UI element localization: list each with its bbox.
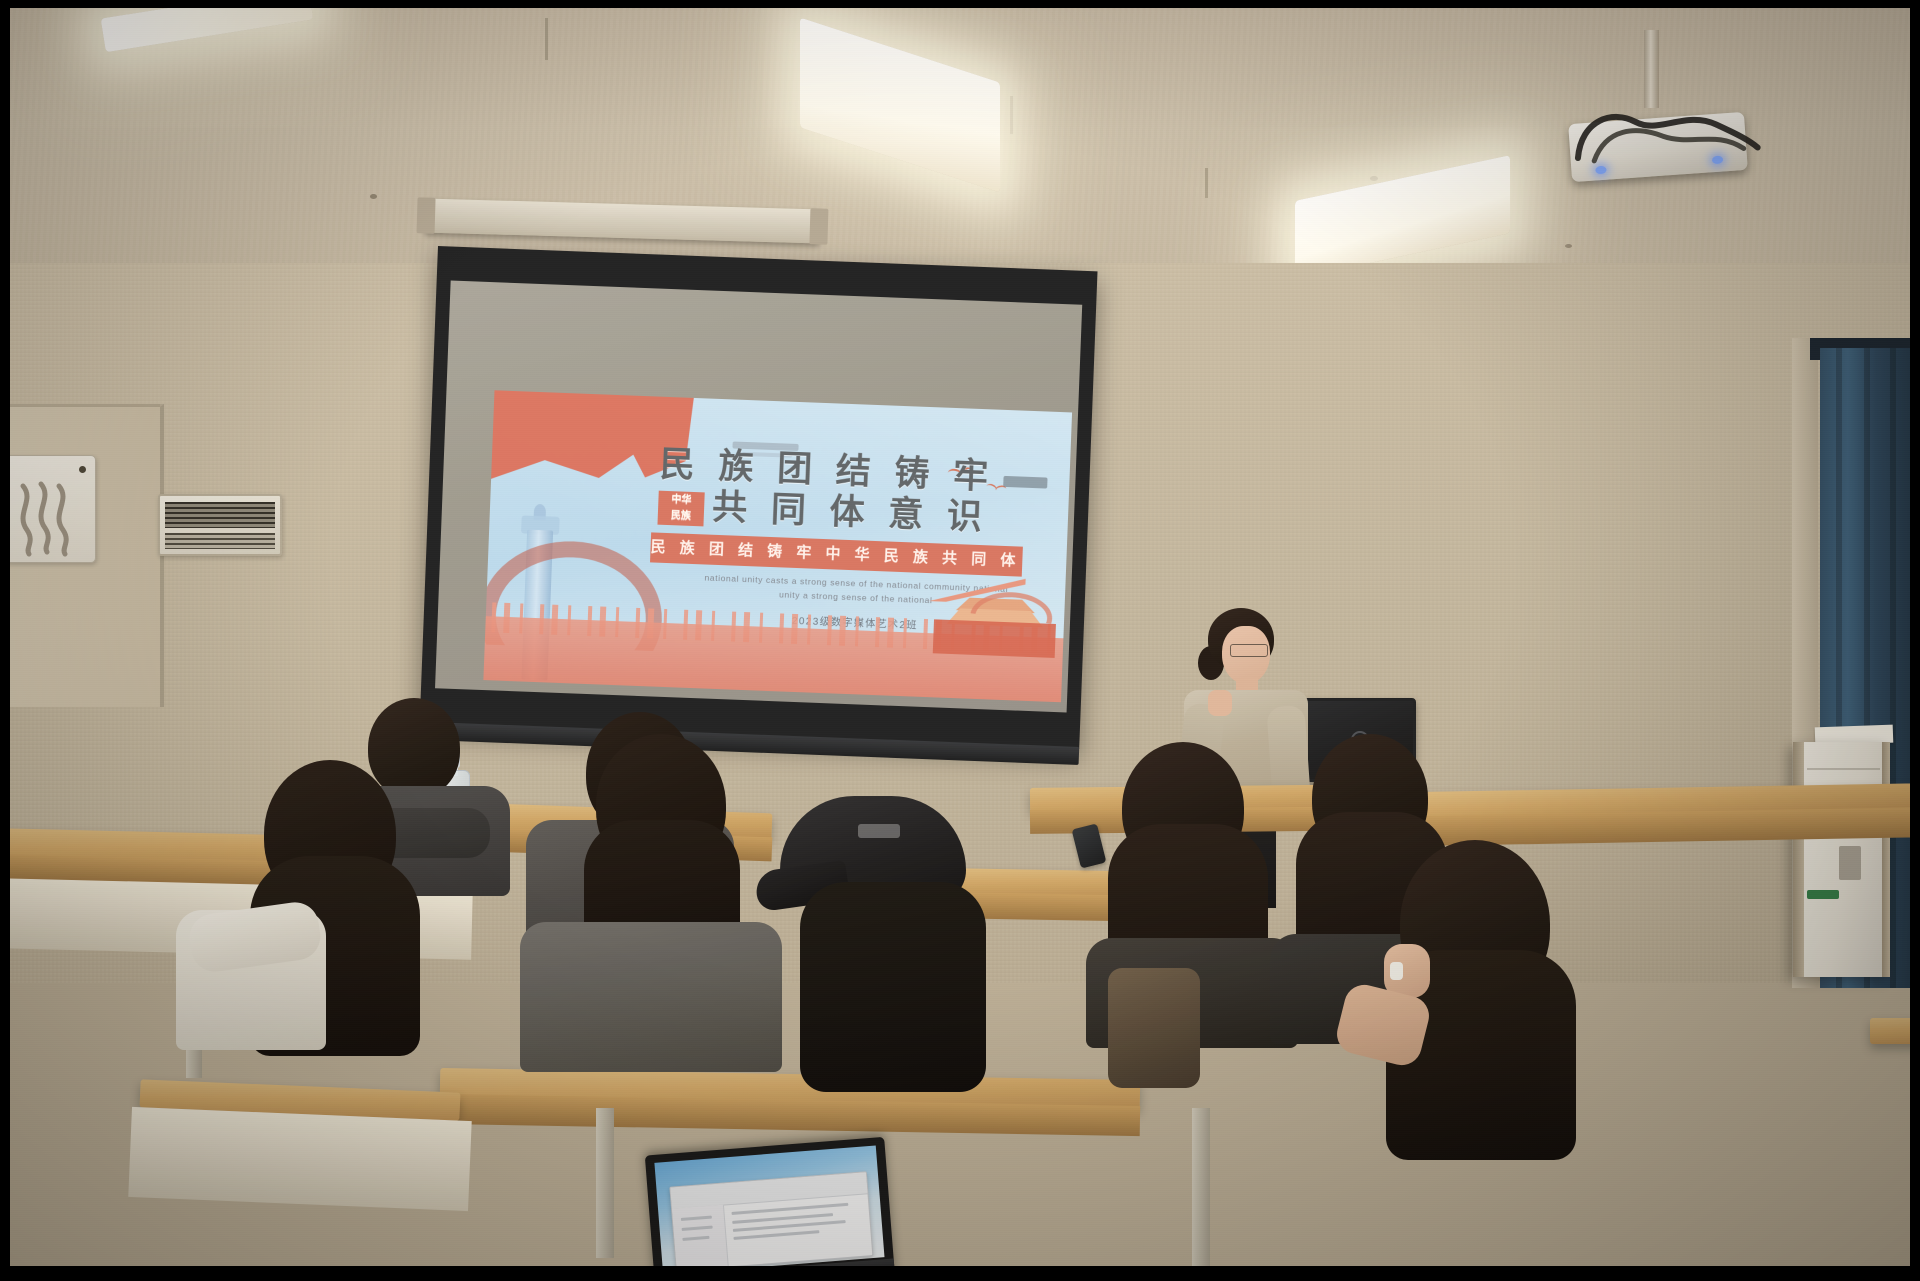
- projected-slide: 民 族 团 结 铸 牢 中华 民族 共 同 体 意 识 民 族 团 结 铸 牢 …: [483, 390, 1072, 702]
- laptop-screen[interactable]: [654, 1145, 884, 1266]
- student-desk-far-right: [1870, 1018, 1910, 1044]
- laptop-window[interactable]: [670, 1171, 873, 1266]
- student-2: [176, 760, 466, 1050]
- tiananmen-base: [933, 619, 1056, 658]
- screen-case-end: [417, 197, 436, 233]
- ceiling-speck: [370, 194, 377, 199]
- screen-case-end: [809, 208, 828, 244]
- glasses-icon: [1230, 644, 1268, 657]
- student-bag-strap: [1108, 968, 1200, 1088]
- lamp-hanger-rod: [1205, 168, 1208, 198]
- screenshot-root: 民 族 团 结 铸 牢 中华 民族 共 同 体 意 识 民 族 团 结 铸 牢 …: [0, 0, 1920, 1281]
- lamp-hanger-rod: [545, 18, 548, 60]
- student-4: [526, 734, 776, 1054]
- ac-left-edge: [1793, 742, 1804, 977]
- projection-screen[interactable]: 民 族 团 结 铸 牢 中华 民族 共 同 体 意 识 民 族 团 结 铸 牢 …: [420, 246, 1098, 749]
- projector-led-icon: [1712, 156, 1724, 165]
- wall-vent-grille: [158, 494, 282, 556]
- vent-slats: [165, 533, 275, 549]
- projector-led-icon: [1595, 166, 1607, 175]
- slide-red-banner: 民 族 团 结 铸 牢 中 华 民 族 共 同 体 意 识: [650, 533, 1023, 577]
- student-8: [1340, 840, 1620, 1160]
- presenter-hand: [1208, 690, 1232, 716]
- laptop-window-sidebar: [672, 1205, 728, 1266]
- ac-right-edge: [1882, 742, 1890, 977]
- classroom-photo: 民 族 团 结 铸 牢 中华 民族 共 同 体 意 识 民 族 团 结 铸 牢 …: [10, 8, 1910, 1266]
- projection-screen-surface: 民 族 团 结 铸 牢 中华 民族 共 同 体 意 识 民 族 团 结 铸 牢 …: [435, 281, 1082, 713]
- ceiling-speck: [1370, 176, 1378, 181]
- slide-badge-line-2: 民族: [658, 507, 705, 525]
- student-6: [1086, 742, 1296, 1042]
- slide-badge: 中华 民族: [657, 490, 704, 526]
- student-long-hair: [800, 882, 986, 1092]
- desk-leg: [596, 1108, 614, 1258]
- ac-display-panel[interactable]: [1839, 846, 1861, 880]
- student-body: [520, 922, 782, 1072]
- student-laptop[interactable]: [645, 1137, 895, 1266]
- desk-front-panel: [128, 1107, 471, 1211]
- sign-dot-icon: [79, 466, 86, 473]
- laptop-row: [733, 1231, 819, 1241]
- student-5: [762, 790, 1002, 1090]
- ceiling-speck: [1565, 244, 1572, 248]
- lamp-hanger-rod: [1010, 96, 1013, 134]
- slide-badge-line-1: 中华: [658, 491, 705, 509]
- desk-leg: [1192, 1108, 1210, 1266]
- projector-cables: [1564, 87, 1763, 166]
- vent-slats: [165, 502, 275, 528]
- ac-seam: [1807, 768, 1880, 770]
- curtain-fold: [1890, 348, 1896, 988]
- ac-status-badge: [1807, 890, 1839, 899]
- wavy-lines-sign: [10, 455, 96, 563]
- earbud-icon: [1390, 962, 1403, 980]
- air-conditioner-unit[interactable]: [1793, 742, 1890, 977]
- cap-logo-icon: [858, 824, 900, 838]
